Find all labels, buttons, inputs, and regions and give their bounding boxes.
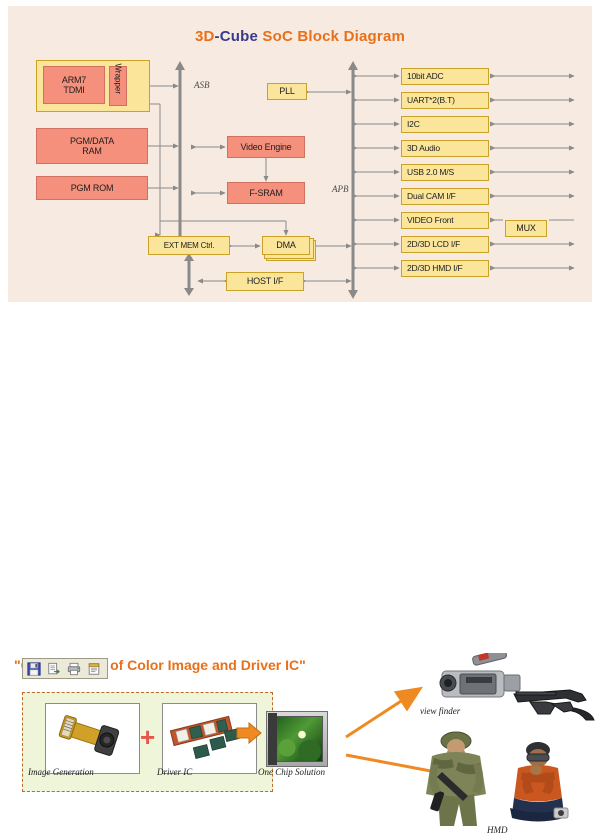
soc-block-diagram-panel: 3D-Cube SoC Block Diagram bbox=[8, 6, 592, 302]
block-f-sram[interactable]: F-SRAM bbox=[227, 182, 305, 204]
caption-view-finder: view finder bbox=[420, 706, 460, 716]
block-peripheral-i2c[interactable]: I2C bbox=[401, 116, 489, 133]
block-wrapper[interactable]: Wrapper bbox=[109, 66, 127, 106]
block-peripheral-usb[interactable]: USB 2.0 M/S bbox=[401, 164, 489, 181]
block-peripheral-3d-audio[interactable]: 3D Audio bbox=[401, 140, 489, 157]
print-icon[interactable] bbox=[65, 660, 83, 677]
block-pll[interactable]: PLL bbox=[267, 83, 307, 100]
block-label: UART*2(B.T) bbox=[407, 96, 455, 106]
block-ext-mem-ctrl[interactable]: EXT MEM Ctrl. bbox=[148, 236, 230, 255]
block-label: 2D/3D HMD I/F bbox=[407, 264, 463, 274]
block-video-engine[interactable]: Video Engine bbox=[227, 136, 305, 158]
soldier-photo bbox=[412, 728, 500, 828]
block-dma[interactable]: DMA bbox=[262, 236, 310, 255]
block-label: 2D/3D LCD I/F bbox=[407, 240, 460, 250]
block-peripheral-lcd-if[interactable]: 2D/3D LCD I/F bbox=[401, 236, 489, 253]
hmd-user-photo bbox=[492, 738, 584, 826]
transform-arrow-icon bbox=[236, 720, 262, 746]
block-peripheral-dual-cam[interactable]: Dual CAM I/F bbox=[401, 188, 489, 205]
block-label: EXT MEM Ctrl. bbox=[164, 241, 215, 250]
block-label: PGM ROM bbox=[71, 183, 114, 193]
image-generation-photo bbox=[45, 703, 140, 774]
block-pgm-data-ram[interactable]: PGM/DATA RAM bbox=[36, 128, 148, 164]
hmd-goggles-photo bbox=[508, 680, 600, 728]
block-label: USB 2.0 M/S bbox=[407, 168, 454, 178]
print-preview-icon[interactable] bbox=[85, 660, 103, 677]
block-label: HOST I/F bbox=[247, 276, 283, 286]
chip-screen bbox=[271, 716, 323, 762]
block-label: PGM/DATA RAM bbox=[70, 136, 114, 157]
block-peripheral-uart[interactable]: UART*2(B.T) bbox=[401, 92, 489, 109]
bus-label-apb: APB bbox=[332, 184, 349, 194]
save-icon[interactable] bbox=[25, 660, 43, 677]
block-pgm-rom[interactable]: PGM ROM bbox=[36, 176, 148, 200]
block-arm7-tdmi[interactable]: ARM7 TDMI bbox=[43, 66, 105, 104]
caption-image-generation: Image Generation bbox=[28, 767, 94, 777]
block-label: Video Engine bbox=[241, 142, 292, 152]
block-label: Dual CAM I/F bbox=[407, 192, 456, 202]
block-label: 10bit ADC bbox=[407, 72, 443, 82]
plus-symbol: + bbox=[140, 724, 155, 750]
bus-label-asb: ASB bbox=[194, 80, 210, 90]
block-host-if[interactable]: HOST I/F bbox=[226, 272, 304, 291]
caption-driver-ic: Driver IC bbox=[157, 767, 192, 777]
block-label: PLL bbox=[279, 86, 294, 96]
floating-image-toolbar[interactable] bbox=[22, 658, 108, 679]
block-label: ARM7 TDMI bbox=[62, 75, 86, 96]
block-label: DMA bbox=[276, 240, 295, 250]
block-label: VIDEO Front bbox=[407, 216, 453, 226]
caption-one-chip-solution: One Chip Solution bbox=[258, 767, 325, 777]
chip-bezel-left bbox=[268, 713, 277, 765]
block-peripheral-hmd-if[interactable]: 2D/3D HMD I/F bbox=[401, 260, 489, 277]
block-label: Wrapper bbox=[114, 64, 123, 80]
block-label: MUX bbox=[516, 223, 535, 233]
block-mux[interactable]: MUX bbox=[505, 220, 547, 237]
block-label: I2C bbox=[407, 120, 420, 130]
block-peripheral-10bit-adc[interactable]: 10bit ADC bbox=[401, 68, 489, 85]
block-label: F-SRAM bbox=[249, 188, 282, 198]
caption-hmd: HMD bbox=[487, 825, 508, 835]
export-icon[interactable] bbox=[45, 660, 63, 677]
product-concept-panel: "Combination of Color Image and Driver I… bbox=[0, 320, 600, 519]
block-peripheral-video-front[interactable]: VIDEO Front bbox=[401, 212, 489, 229]
block-label: 3D Audio bbox=[407, 144, 440, 154]
